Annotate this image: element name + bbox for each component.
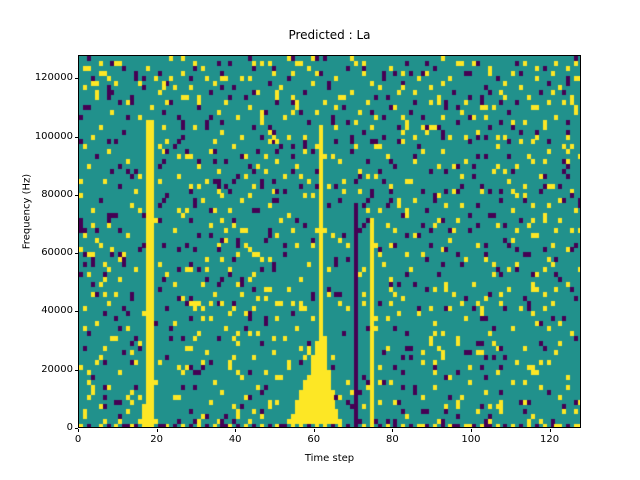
- y-tick-mark: [75, 78, 79, 79]
- x-tick-mark: [78, 429, 79, 433]
- y-tick-label: 20000: [41, 364, 73, 375]
- matplotlib-figure: Predicted : La 0200004000060000800001000…: [0, 0, 640, 480]
- heatmap-axes: [78, 55, 581, 428]
- y-tick-label: 40000: [41, 305, 73, 316]
- x-tick-label: 120: [520, 434, 580, 445]
- x-tick-mark: [157, 429, 158, 433]
- x-axis-label: Time step: [78, 453, 581, 464]
- x-tick-mark: [471, 429, 472, 433]
- y-tick-label: 120000: [35, 72, 73, 83]
- heatmap-image: [79, 56, 581, 428]
- x-tick-mark: [550, 429, 551, 433]
- page-title: Predicted : La: [78, 28, 581, 42]
- x-tick-label: 60: [284, 434, 344, 445]
- y-tick-label: 0: [67, 422, 73, 433]
- y-tick-mark: [75, 137, 79, 138]
- x-tick-label: 20: [127, 434, 187, 445]
- x-tick-mark: [314, 429, 315, 433]
- y-tick-label: 80000: [41, 189, 73, 200]
- y-tick-label: 100000: [35, 131, 73, 142]
- x-tick-mark: [392, 429, 393, 433]
- y-tick-mark: [75, 370, 79, 371]
- x-tick-label: 100: [441, 434, 501, 445]
- x-tick-mark: [235, 429, 236, 433]
- y-axis-label: Frequency (Hz): [22, 137, 33, 287]
- y-tick-label: 60000: [41, 247, 73, 258]
- x-tick-label: 40: [205, 434, 265, 445]
- x-tick-label: 80: [362, 434, 422, 445]
- x-tick-label: 0: [48, 434, 108, 445]
- y-tick-mark: [75, 253, 79, 254]
- y-tick-mark: [75, 195, 79, 196]
- y-tick-mark: [75, 311, 79, 312]
